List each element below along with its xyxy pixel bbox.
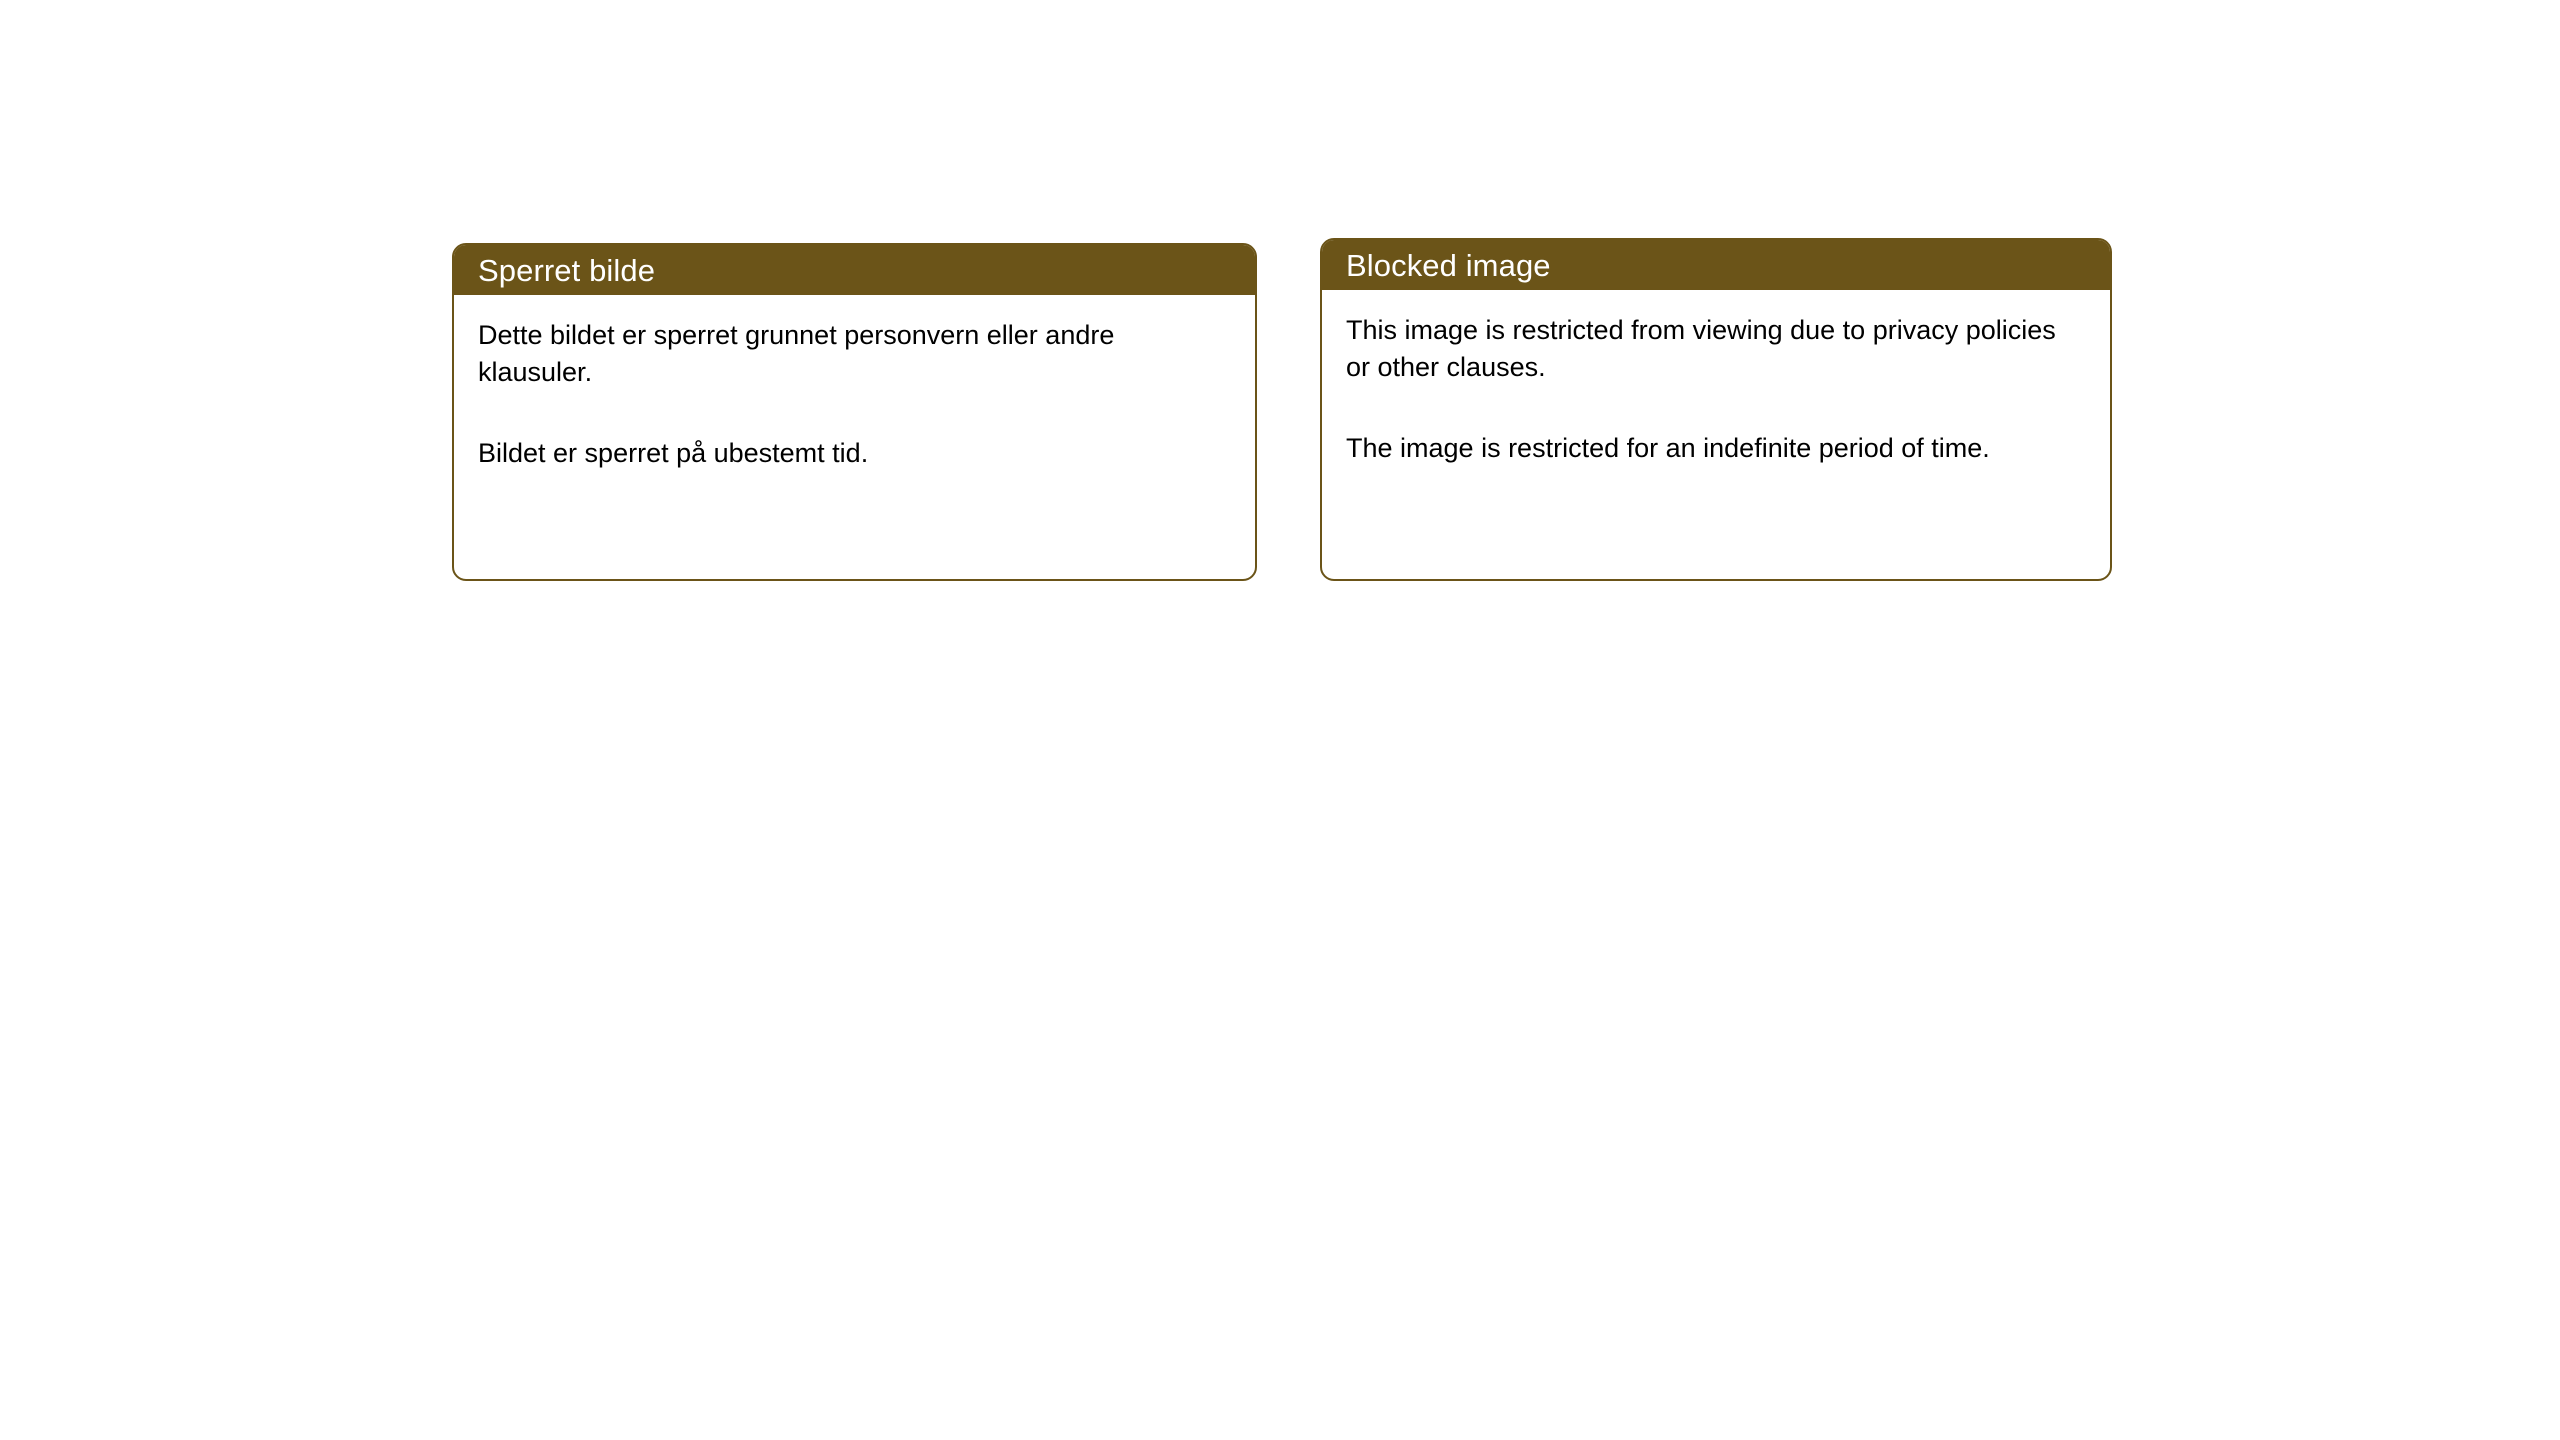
page-root: { "page": { "background_color": "#ffffff… — [0, 0, 2560, 1440]
blocked-image-panel-en: Blocked image This image is restricted f… — [1320, 238, 2112, 581]
panel-body-en: This image is restricted from viewing du… — [1322, 290, 2110, 491]
panel-title-en: Blocked image — [1346, 250, 1551, 281]
panel-title-no: Sperret bilde — [478, 255, 655, 286]
panel-header-no: Sperret bilde — [454, 245, 1255, 295]
panel-paragraph-duration-no: Bildet er sperret på ubestemt tid. — [478, 435, 1231, 472]
panel-paragraph-duration-en: The image is restricted for an indefinit… — [1346, 430, 2086, 467]
panel-body-no: Dette bildet er sperret grunnet personve… — [454, 295, 1255, 496]
panel-header-en: Blocked image — [1322, 240, 2110, 290]
panel-paragraph-reason-no: Dette bildet er sperret grunnet personve… — [478, 317, 1231, 390]
blocked-image-panel-no: Sperret bilde Dette bildet er sperret gr… — [452, 243, 1257, 581]
panel-paragraph-reason-en: This image is restricted from viewing du… — [1346, 312, 2086, 385]
